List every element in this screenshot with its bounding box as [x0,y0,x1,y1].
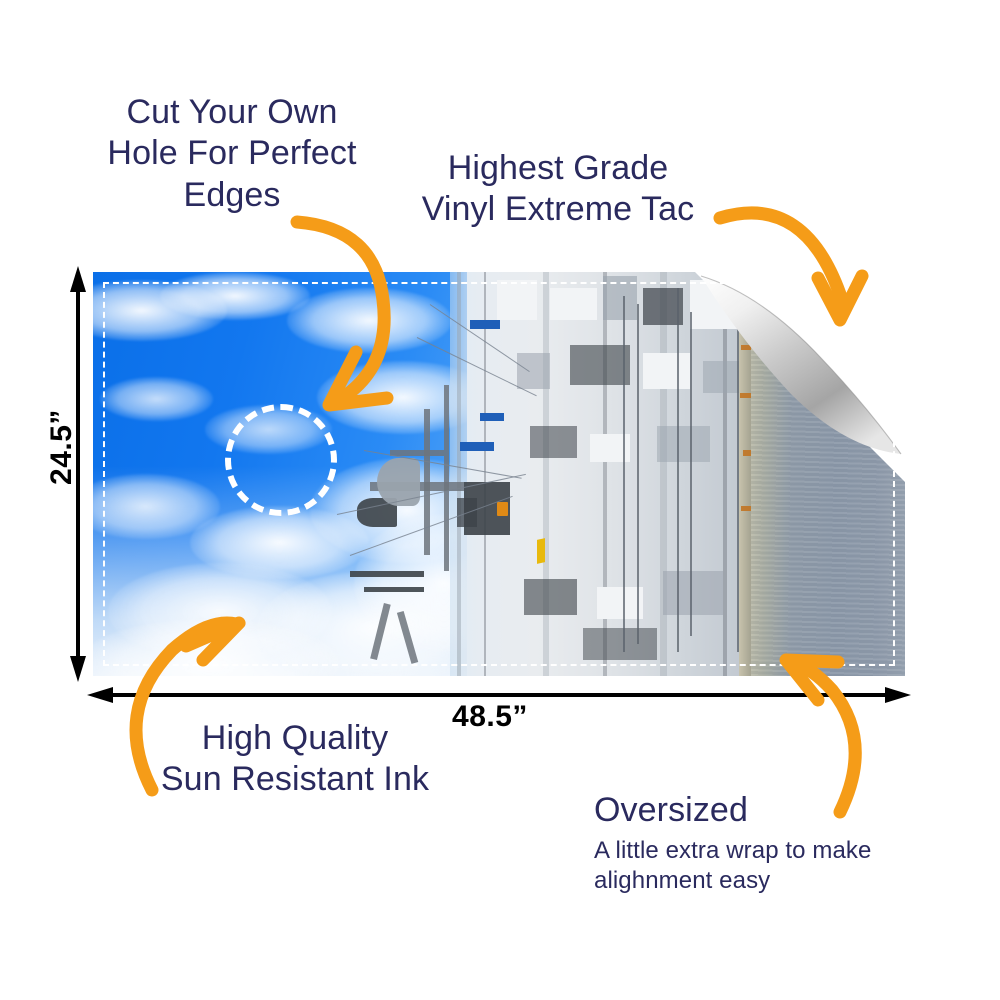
callout-cut-your-own-hole: Cut Your Own Hole For Perfect Edges [72,92,392,216]
infographic-canvas: Cut Your Own Hole For Perfect Edges High… [0,0,1000,1000]
callout-highest-grade-vinyl: Highest Grade Vinyl Extreme Tac [398,148,718,231]
vinyl-wrap-artwork [93,272,905,676]
cut-hole-dashed-circle [225,404,337,516]
dimension-label-width: 48.5” [400,700,580,734]
water-region [751,272,905,676]
ship-region [450,272,783,676]
callout-oversized-title: Oversized [594,790,934,831]
dimension-label-height: 24.5” [45,399,79,495]
callout-oversized-subtext: A little extra wrap to make alighnment e… [594,836,924,896]
